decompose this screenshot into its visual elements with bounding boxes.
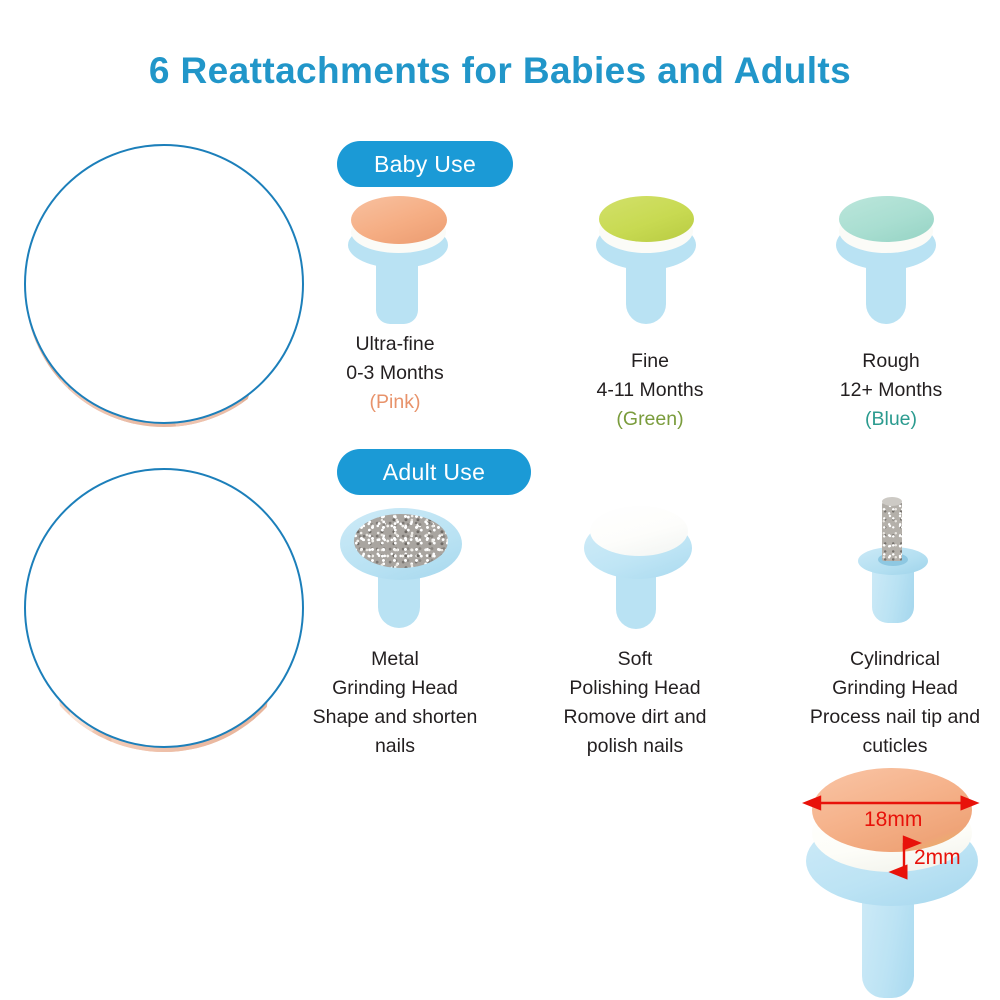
attachment-pad-surface (599, 196, 694, 242)
ultra-fine-grit: Ultra-fine (355, 333, 434, 355)
soft-polishing-surface (590, 506, 688, 556)
attachment-pad-surface (839, 196, 934, 242)
pad-dimension-diagram: 18mm 2mm (800, 768, 990, 1000)
metal-head-line-2: Grinding Head (332, 677, 458, 699)
page-title: 6 Reattachments for Babies and Adults (0, 50, 1000, 92)
thickness-label: 2mm (914, 846, 961, 870)
ultra-fine-age: 0-3 Months (346, 362, 444, 384)
metal-head-line-3: Shape and shorten (313, 706, 478, 728)
ultra-fine-caption: Ultra-fine 0-3 Months (Pink) (280, 330, 510, 417)
soft-head-line-2: Polishing Head (569, 677, 700, 699)
soft-polishing-head-caption: Soft Polishing Head Romove dirt and poli… (525, 645, 745, 761)
fine-attachment (588, 196, 718, 326)
badge-adult-use-label: Adult Use (383, 459, 485, 486)
badge-baby-use-label: Baby Use (374, 151, 476, 178)
rough-attachment (828, 196, 958, 326)
cylindrical-grinding-head-caption: Cylindrical Grinding Head Process nail t… (780, 645, 1000, 761)
adult-photo-circle-outline (24, 468, 304, 748)
cylindrical-head-line-3: Process nail tip and (810, 706, 980, 728)
ultra-fine-color-word: (Pink) (280, 388, 510, 417)
ultra-fine-attachment (334, 196, 464, 326)
badge-adult-use: Adult Use (337, 449, 531, 495)
baby-hand-photo (24, 144, 304, 424)
rough-grit: Rough (862, 350, 919, 372)
fine-age: 4-11 Months (597, 379, 704, 401)
rough-color-word: (Blue) (776, 405, 1000, 434)
cylindrical-grinding-head (838, 495, 958, 635)
metal-head-line-4: nails (375, 735, 415, 757)
soft-head-line-3: Romove dirt and (563, 706, 706, 728)
cylindrical-bit-tip (882, 497, 902, 506)
soft-head-line-4: polish nails (587, 735, 683, 757)
infographic-page: 6 Reattachments for Babies and Adults (0, 0, 1000, 1000)
badge-baby-use: Baby Use (337, 141, 513, 187)
fine-caption: Fine 4-11 Months (Green) (535, 347, 765, 434)
diameter-label: 18mm (864, 808, 922, 832)
cylindrical-grinding-bit (882, 499, 902, 561)
cylindrical-head-line-2: Grinding Head (832, 677, 958, 699)
soft-polishing-head (578, 503, 708, 633)
cylindrical-head-line-4: cuticles (862, 735, 927, 757)
dimension-arrows (800, 768, 990, 1000)
metal-grinding-head-caption: Metal Grinding Head Shape and shorten na… (285, 645, 505, 761)
fine-color-word: (Green) (535, 405, 765, 434)
adult-hand-photo (24, 468, 304, 748)
fine-grit: Fine (631, 350, 669, 372)
rough-caption: Rough 12+ Months (Blue) (776, 347, 1000, 434)
metal-grinding-head (334, 500, 474, 630)
attachment-pad-surface (351, 196, 447, 244)
baby-photo-circle-outline (24, 144, 304, 424)
metal-grinding-surface (354, 514, 448, 568)
rough-age: 12+ Months (840, 379, 942, 401)
soft-head-line-1: Soft (618, 648, 653, 670)
cylindrical-head-line-1: Cylindrical (850, 648, 940, 670)
metal-head-line-1: Metal (371, 648, 419, 670)
